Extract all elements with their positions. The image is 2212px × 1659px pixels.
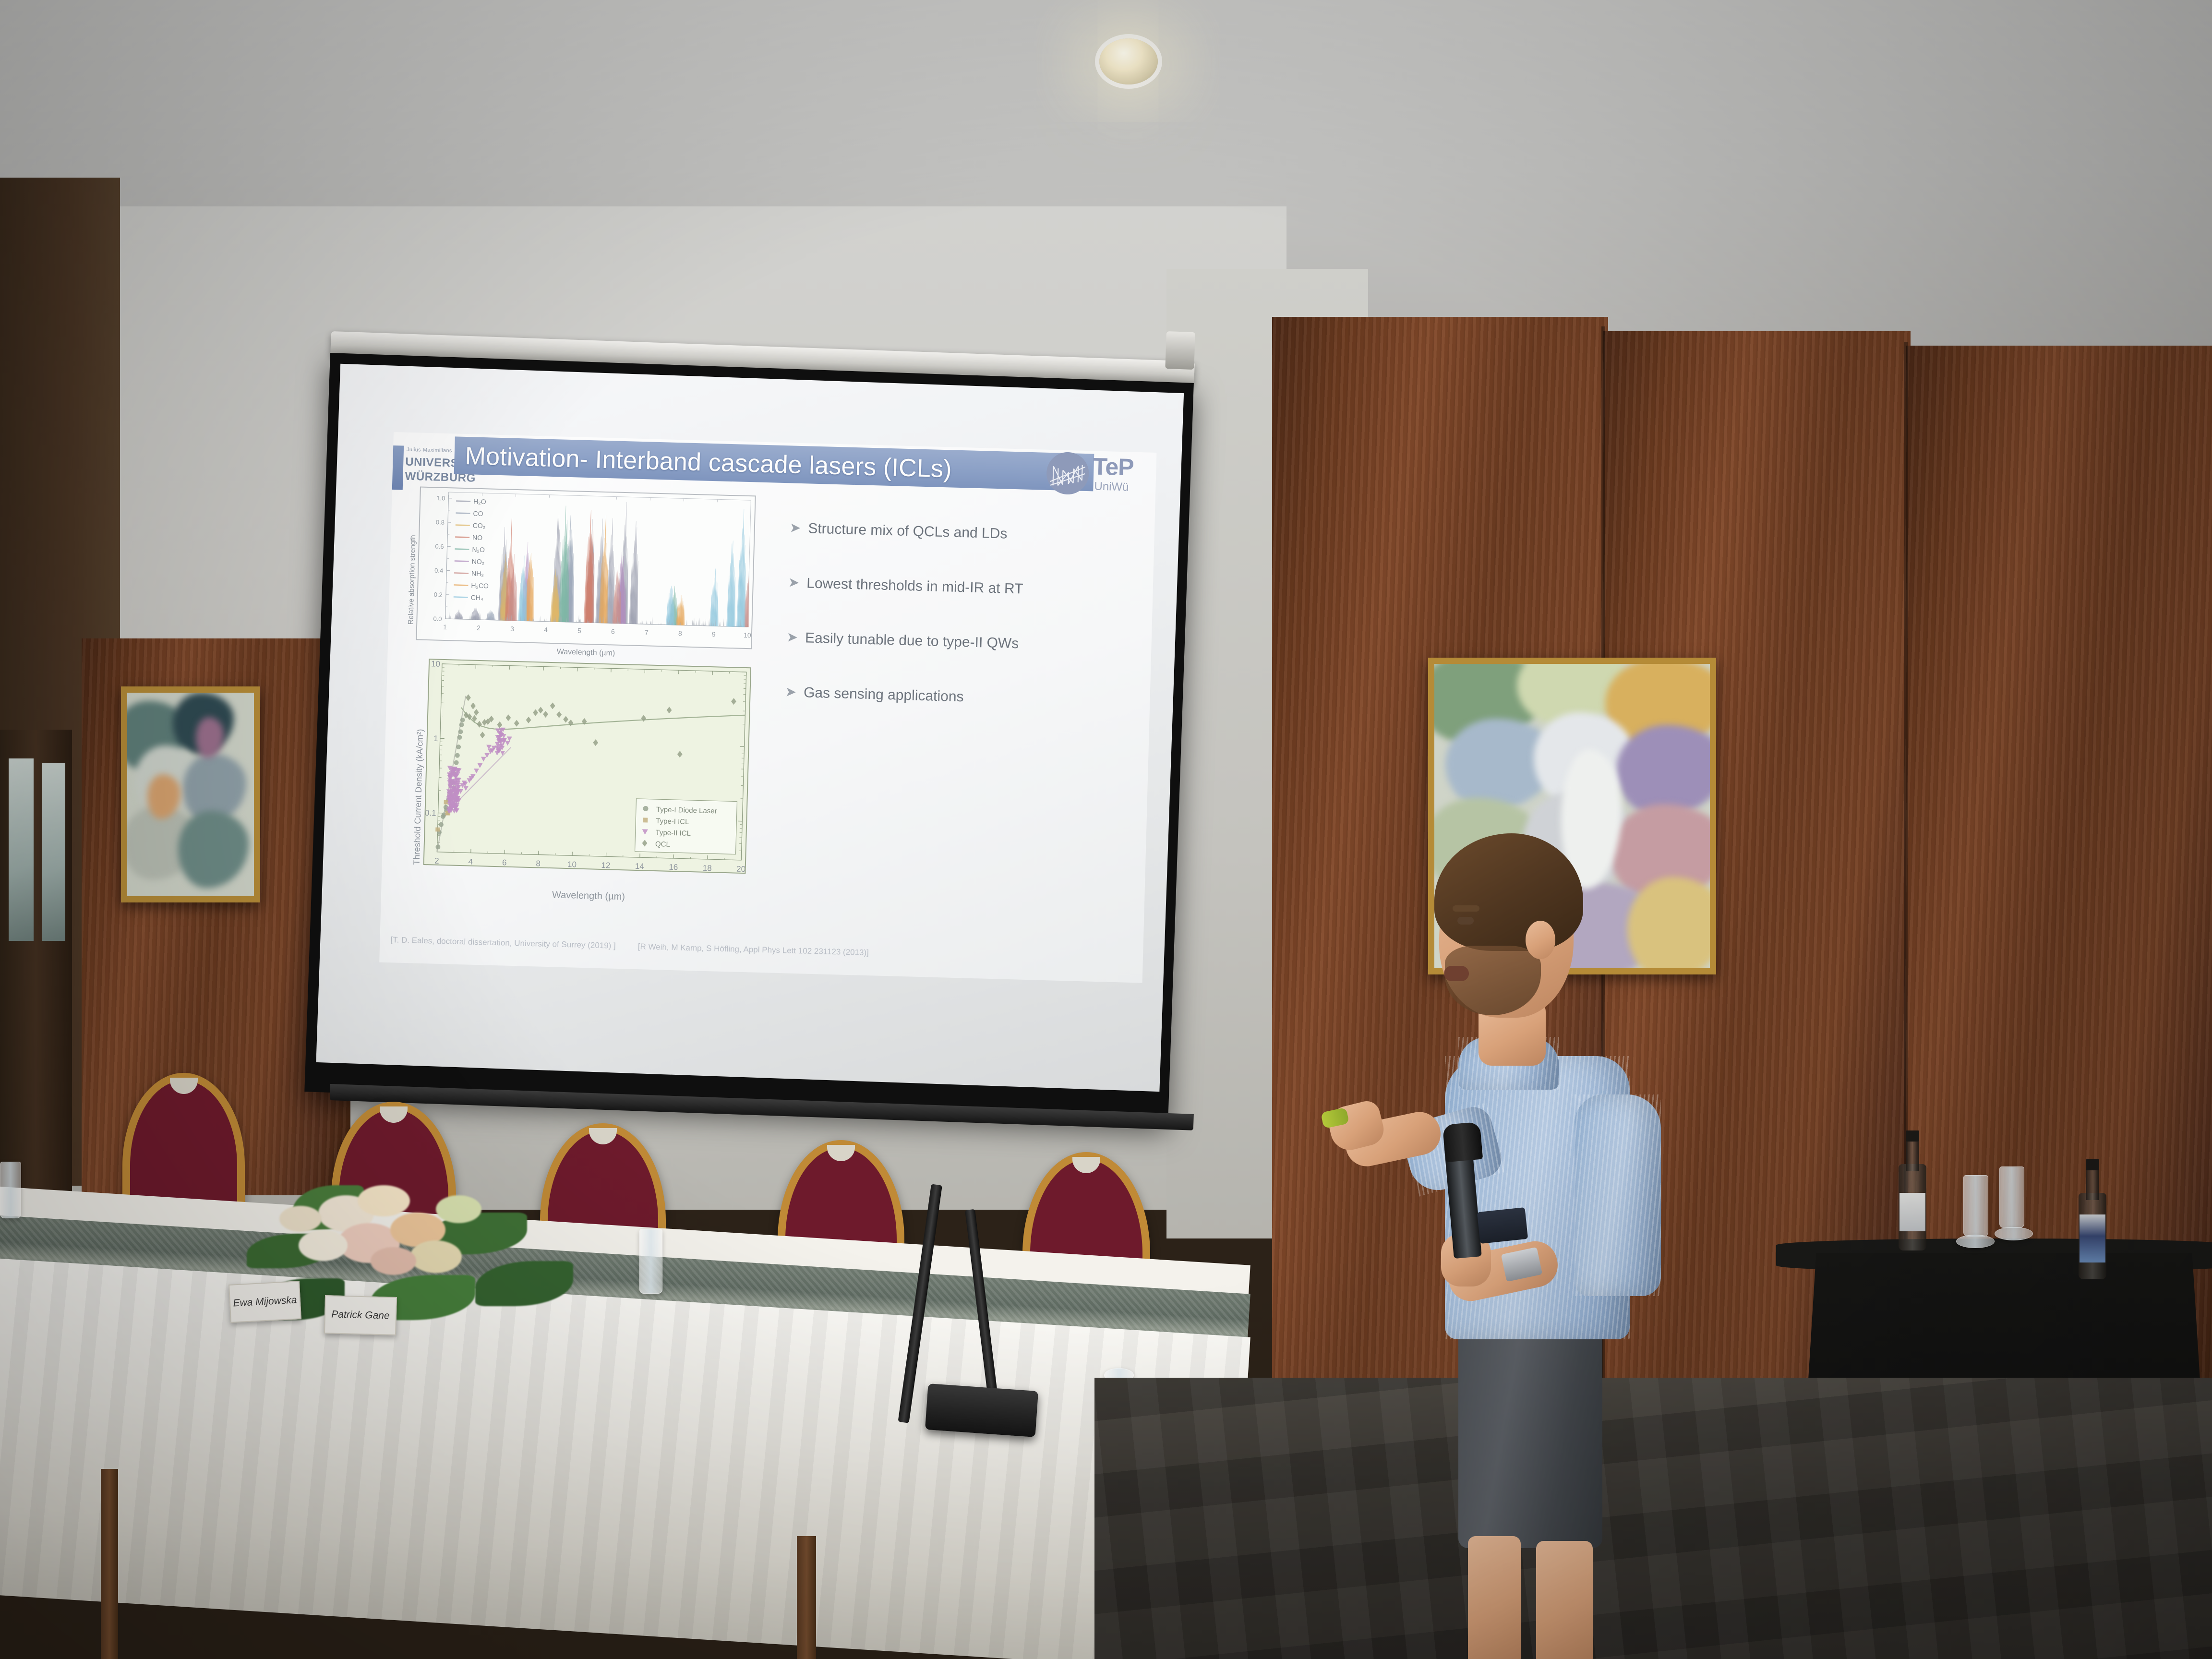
presenter-mouth	[1444, 966, 1469, 981]
bottle-cap	[1906, 1130, 1919, 1142]
svg-text:0.6: 0.6	[435, 543, 444, 550]
svg-text:10: 10	[431, 660, 440, 669]
door-glass-pane-2	[42, 763, 65, 941]
svg-text:4: 4	[468, 857, 473, 866]
svg-text:10: 10	[567, 860, 577, 869]
name-card-2: Patrick Gane	[324, 1295, 397, 1335]
tep-logo-sub: UniWü	[1094, 480, 1129, 494]
svg-text:Type-I Diode Laser: Type-I Diode Laser	[656, 805, 717, 815]
bottle-label	[1899, 1193, 1925, 1231]
svg-text:NH₃: NH₃	[471, 569, 484, 577]
svg-text:1.0: 1.0	[436, 494, 445, 502]
svg-text:0.4: 0.4	[434, 567, 443, 574]
svg-text:6: 6	[502, 858, 507, 867]
coaster-1	[1956, 1235, 1995, 1248]
head-table-leg-2	[797, 1536, 816, 1659]
slide-bullet-list: ➤ Structure mix of QCLs and LDs ➤ Lowest…	[784, 519, 1121, 747]
absorption-ylabel: Relative absorption strength	[407, 535, 417, 625]
presenter-shorts	[1458, 1318, 1602, 1548]
chart-threshold-current-density: 0.11102468101214161820Type-I Diode Laser…	[423, 659, 751, 874]
svg-text:7: 7	[645, 628, 649, 636]
painting-left-canvas	[127, 693, 254, 896]
bridge-icon	[1046, 452, 1089, 495]
university-logo-bar	[392, 445, 404, 490]
head-table-leg-1	[101, 1469, 118, 1659]
mic-stand-base	[925, 1383, 1038, 1437]
name-card-1-label: Ewa Mijowska	[233, 1295, 297, 1310]
projection-surface: Julius-Maximilians UNIVERSITÄT WÜRZBURG …	[316, 364, 1184, 1092]
presenter-leg-left	[1468, 1536, 1521, 1659]
svg-text:6: 6	[611, 627, 615, 635]
svg-text:20: 20	[736, 865, 745, 873]
absorption-spectrum-svg: 123456789100.00.20.40.60.81.0H₂OCOCO₂NON…	[417, 488, 755, 649]
bottle-cap	[2086, 1159, 2099, 1170]
university-logo-subline: Julius-Maximilians	[407, 447, 452, 454]
projector-screen-case-end	[1165, 331, 1195, 370]
name-card-2-label: Patrick Gane	[331, 1309, 390, 1322]
coaster-2	[1995, 1227, 2033, 1240]
bullet-text: Lowest thresholds in mid-IR at RT	[806, 575, 1023, 598]
name-card-1: Ewa Mijowska	[228, 1281, 301, 1323]
university-logo: Julius-Maximilians UNIVERSITÄT WÜRZBURG	[392, 445, 459, 492]
svg-text:14: 14	[635, 862, 644, 871]
bullet-text: Structure mix of QCLs and LDs	[808, 520, 1008, 542]
svg-text:Type-II ICL: Type-II ICL	[655, 829, 691, 838]
svg-text:2: 2	[434, 856, 439, 866]
threshold-scatter-svg: 0.11102468101214161820Type-I Diode Laser…	[424, 660, 750, 873]
svg-text:5: 5	[577, 626, 581, 634]
svg-text:18: 18	[703, 864, 712, 873]
presenter-sleeve-right	[1575, 1094, 1661, 1296]
citation-1: [T. D. Eales, doctoral dissertation, Uni…	[390, 935, 616, 951]
svg-text:0.2: 0.2	[434, 591, 443, 598]
svg-text:12: 12	[601, 861, 610, 870]
projection-screen: Julius-Maximilians UNIVERSITÄT WÜRZBURG …	[304, 353, 1194, 1122]
water-bottle-2	[2079, 1159, 2106, 1279]
svg-text:8: 8	[678, 629, 682, 637]
ceiling-light-fixture	[1099, 38, 1158, 84]
svg-text:QCL: QCL	[655, 840, 670, 849]
bullet-arrow-icon: ➤	[785, 684, 796, 700]
svg-text:4: 4	[544, 626, 548, 634]
svg-text:NO₂: NO₂	[472, 557, 485, 565]
drinking-glass-1	[1963, 1175, 1988, 1237]
bullet-item: ➤ Structure mix of QCLs and LDs	[789, 519, 1121, 546]
bullet-arrow-icon: ➤	[789, 519, 801, 536]
slide-citations: [T. D. Eales, doctoral dissertation, Uni…	[390, 935, 1139, 965]
tep-logo: TeP UniWü	[1046, 451, 1152, 500]
door-glass-pane	[9, 758, 34, 941]
svg-text:NO: NO	[472, 533, 483, 541]
svg-text:CH₄: CH₄	[471, 593, 484, 601]
bullet-item: ➤ Easily tunable due to type-II QWs	[786, 629, 1118, 655]
presentation-photo-scene: Julius-Maximilians UNIVERSITÄT WÜRZBURG …	[0, 0, 2212, 1659]
svg-text:CO₂: CO₂	[473, 522, 486, 530]
svg-text:H₂CO: H₂CO	[471, 581, 489, 589]
absorption-xlabel: Wavelength (µm)	[556, 648, 615, 658]
presenter-ear	[1526, 921, 1555, 959]
tep-logo-text: TeP	[1093, 454, 1134, 480]
water-bottle-1	[1899, 1130, 1926, 1250]
bullet-text: Easily tunable due to type-II QWs	[805, 629, 1019, 652]
presenter-eyebrow	[1453, 905, 1479, 912]
bullet-item: ➤ Lowest thresholds in mid-IR at RT	[788, 574, 1119, 601]
svg-text:Type-I ICL: Type-I ICL	[656, 817, 689, 826]
svg-text:0.0: 0.0	[433, 615, 442, 622]
bullet-arrow-icon: ➤	[788, 574, 799, 591]
presentation-slide: Julius-Maximilians UNIVERSITÄT WÜRZBURG …	[379, 432, 1156, 983]
drinking-glass-2	[1999, 1166, 2024, 1228]
svg-text:3: 3	[510, 625, 514, 633]
svg-text:0.8: 0.8	[436, 518, 445, 526]
citation-2: [R Weih, M Kamp, S Höfling, Appl Phys Le…	[638, 942, 869, 958]
presenter-hair	[1434, 833, 1583, 951]
painting-left	[121, 686, 260, 902]
svg-text:16: 16	[669, 863, 678, 872]
bullet-item: ➤ Gas sensing applications	[785, 684, 1117, 710]
svg-text:10: 10	[744, 631, 751, 639]
svg-text:CO: CO	[473, 510, 483, 518]
presenter-eye	[1457, 917, 1474, 925]
water-glass-far-left	[0, 1162, 21, 1218]
svg-text:8: 8	[536, 859, 541, 868]
svg-text:H₂O: H₂O	[473, 498, 486, 506]
svg-text:1: 1	[433, 734, 438, 743]
presenter-leg-right	[1536, 1541, 1593, 1659]
svg-text:1: 1	[443, 623, 447, 631]
microphone-head	[1443, 1122, 1483, 1163]
shirt-pocket	[1477, 1207, 1528, 1244]
water-glass-head-table	[639, 1229, 662, 1294]
chart-absorption-spectrum: 123456789100.00.20.40.60.81.0H₂OCOCO₂NON…	[416, 486, 756, 649]
bullet-text: Gas sensing applications	[804, 684, 964, 706]
bottle-label-suza	[2080, 1214, 2105, 1262]
bullet-arrow-icon: ➤	[786, 629, 798, 646]
threshold-xlabel: Wavelength (µm)	[552, 890, 625, 902]
svg-text:N₂O: N₂O	[472, 545, 485, 553]
presenter	[1334, 787, 1690, 1659]
svg-text:2: 2	[477, 624, 481, 632]
svg-text:0.1: 0.1	[425, 808, 436, 818]
svg-text:9: 9	[712, 630, 716, 638]
